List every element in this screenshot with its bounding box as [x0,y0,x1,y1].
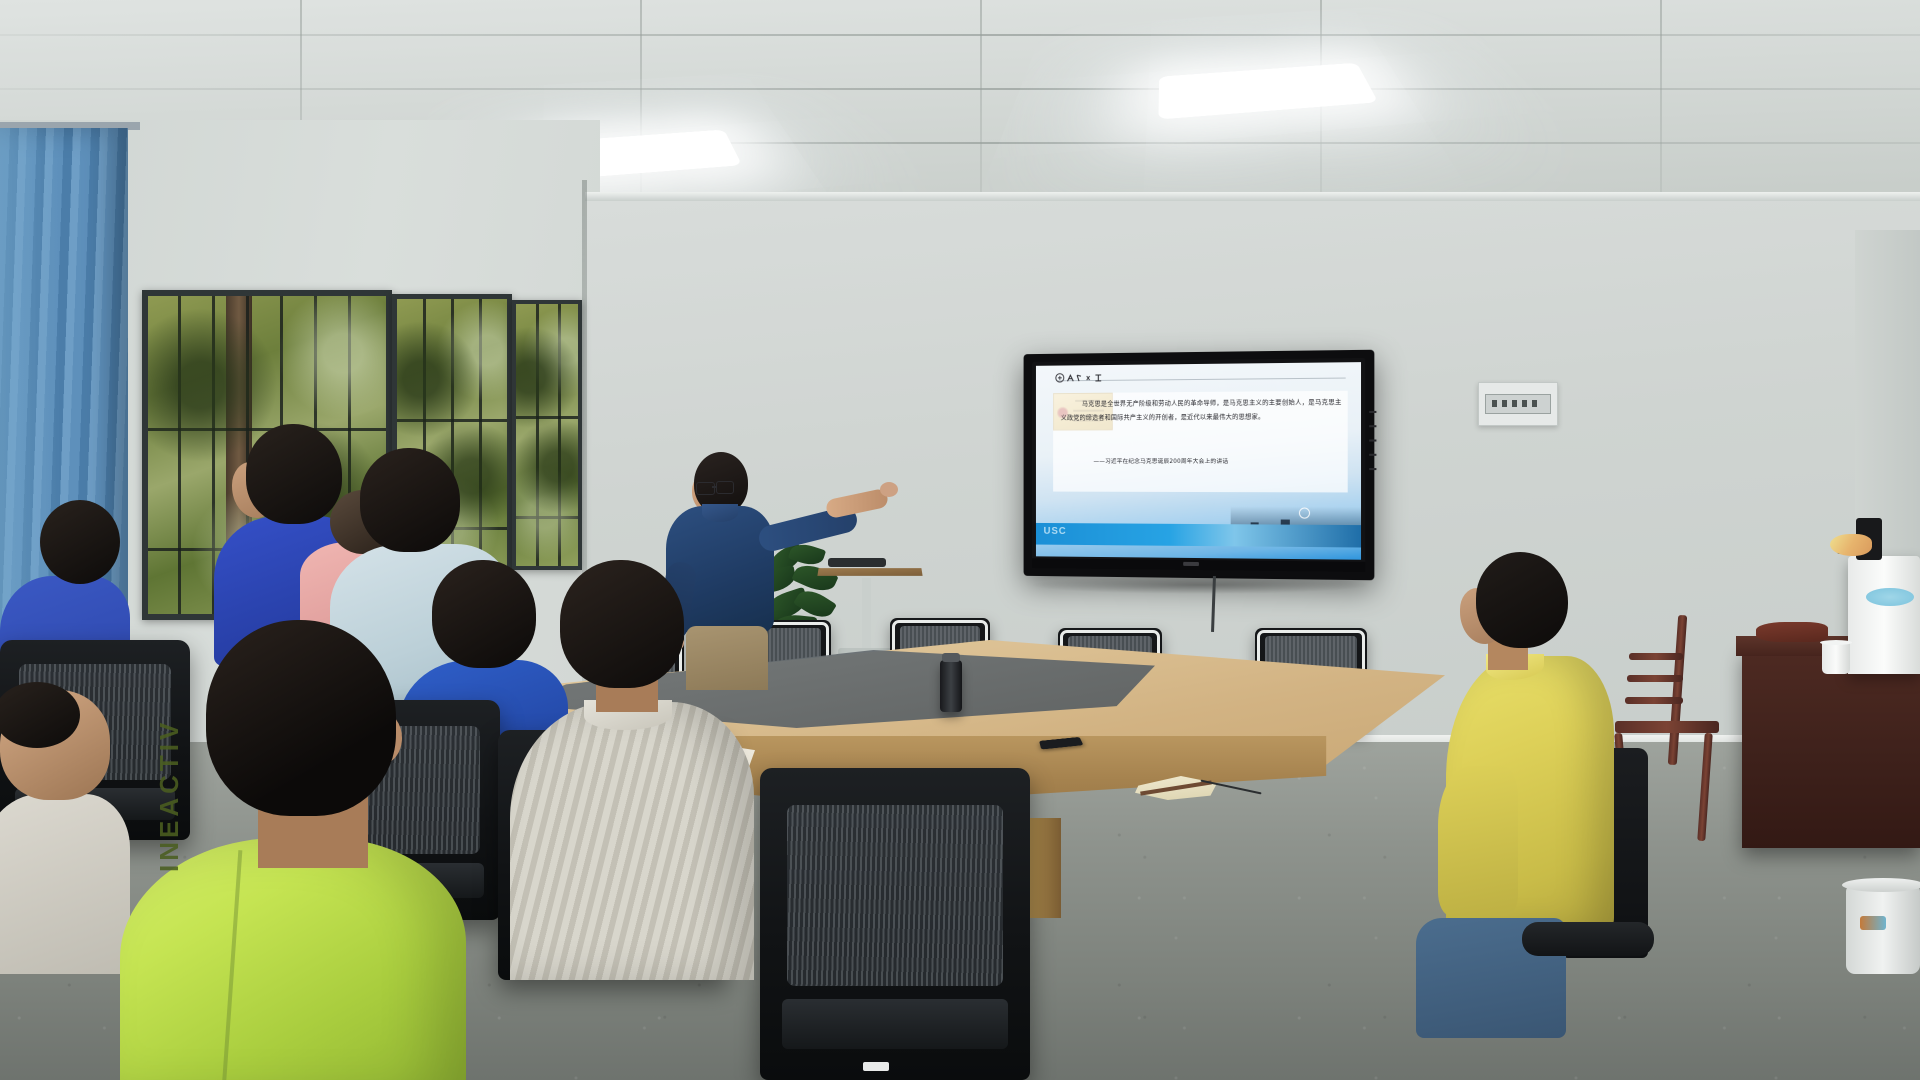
attendee-head [360,448,460,552]
attendee-head [40,500,120,584]
display-brand-logo-icon [1183,562,1199,566]
attendee-head [560,560,684,688]
attendee-arm [1438,766,1518,916]
presenter-collar [702,504,738,522]
attendee-striped-shirt [520,560,750,980]
side-desk-cabinet [1742,648,1920,848]
slide-sun-graphic [1299,507,1310,518]
attendee-torso [510,702,754,980]
display-side-buttons[interactable] [1369,411,1376,472]
desk-item-bag[interactable] [1756,622,1828,642]
presenter-pointing-hand [880,482,898,497]
attendee-head [1476,552,1568,648]
vacuum-flask[interactable] [940,660,962,712]
control-panel-display [1485,394,1551,414]
window-right [512,300,582,570]
display-screen[interactable]: 马克思是全世界无产阶级和劳动人民的革命导师，是马克思主义的主要创始人，是马克思主… [1036,362,1361,560]
jacket-brand-text: INEACTIV [154,719,185,872]
wall-control-panel[interactable] [1478,382,1558,426]
attendee-chair-armrest[interactable] [1522,922,1654,956]
presenter-glasses-right-lens [716,481,734,494]
university-logo-icon [1055,370,1113,381]
dispenser-label [1866,588,1914,606]
waste-bucket[interactable] [1846,886,1920,974]
slide-attribution: ——习近平在纪念马克思诞辰200周年大会上的讲话 [1093,456,1341,465]
presenter-right-forearm [825,488,890,519]
slide-bottom-banner [1036,523,1361,548]
wall-trim [585,192,1920,201]
meeting-room-photo: 马克思是全世界无产阶级和劳动人民的革命导师，是马克思主义的主要创始人，是马克思主… [0,0,1920,1080]
attendee-yellow-shirt [1430,552,1650,942]
paper-cup[interactable] [1822,642,1850,674]
flask-cap [942,653,960,662]
slide-body-text: 马克思是全世界无产阶级和劳动人民的革命导师，是马克思主义的主要创始人，是马克思主… [1061,396,1342,425]
wall-display[interactable]: 马克思是全世界无产阶级和劳动人民的革命导师，是马克思主义的主要创始人，是马克思主… [1024,350,1375,581]
attendee-head [206,620,396,816]
bucket-lid[interactable] [1842,878,1920,892]
office-chair[interactable] [760,768,1030,1080]
attendee-torso [120,838,466,1080]
bucket-label [1860,916,1886,930]
attendee-lime-jacket: INEACTIV [110,620,470,1080]
slide-banner-text: USC [1044,526,1067,537]
water-dispenser[interactable] [1848,556,1920,674]
presenter-glasses-bridge [712,486,717,488]
display-shadow [1030,576,1370,594]
cup-rim [1820,640,1852,645]
presenter-glasses-left-lens [696,482,715,495]
decorative-flower [1830,534,1872,556]
